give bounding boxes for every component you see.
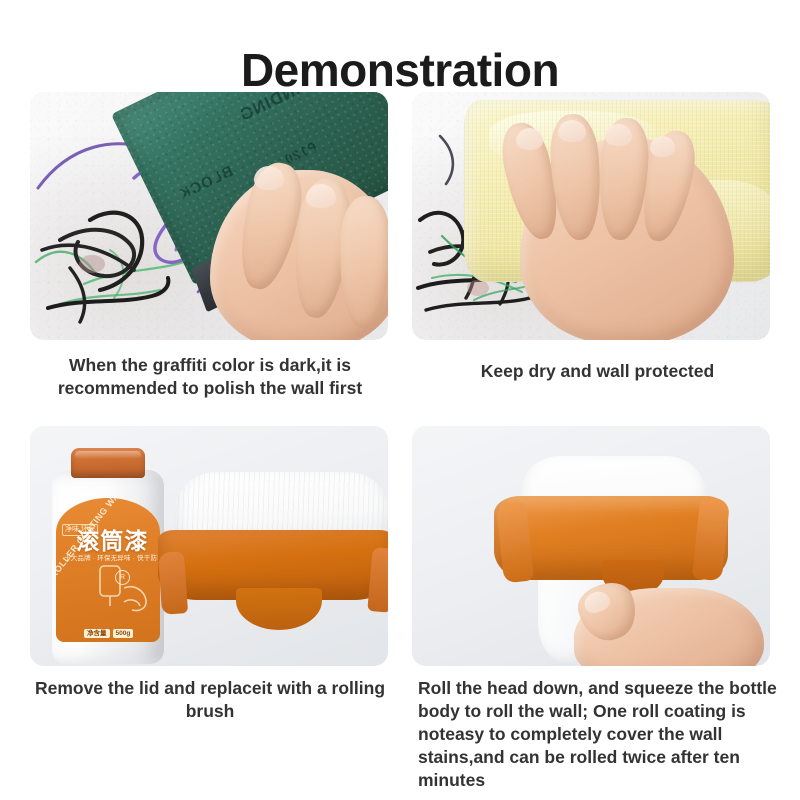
step-4-caption: Roll the head down, and squeeze the bott…	[418, 677, 788, 792]
roller-arm-left	[496, 501, 534, 584]
photo-sanding-block-on-graffiti-wall: SANDING BLOCK P120	[30, 92, 388, 340]
photo-wiping-wall-with-yellow-cloth	[412, 92, 770, 340]
step-2-caption: Keep dry and wall protected	[405, 360, 790, 383]
page-title: Demonstration	[0, 43, 800, 97]
label-weight-badges: 净含量 500g	[84, 629, 133, 638]
bottle-label: 净味 环保 滚筒漆 十大品牌 · 环保无异味 · 快干防霉 · 持久不脱落 RO…	[56, 498, 160, 642]
sanding-block-print-1: SANDING	[236, 92, 322, 126]
roller-stem	[236, 588, 322, 630]
photo-paint-bottle-and-roller-head: 净味 环保 滚筒漆 十大品牌 · 环保无异味 · 快干防霉 · 持久不脱落 RO…	[30, 426, 388, 666]
photo-rolling-paint-onto-wall	[412, 426, 770, 666]
fingernail	[650, 136, 675, 157]
label-illustration	[94, 558, 156, 616]
paint-bottle: 净味 环保 滚筒漆 十大品牌 · 环保无异味 · 快干防霉 · 持久不脱落 RO…	[52, 448, 164, 664]
sanding-block-print-3: P120	[282, 139, 319, 168]
sanding-block-print-2: BLOCK	[176, 163, 236, 204]
fingernail	[558, 120, 586, 142]
fingernail	[254, 166, 284, 190]
cradle-arm-right	[367, 547, 388, 613]
roller-brush-head	[158, 472, 388, 642]
fingernail	[306, 184, 336, 208]
fingernail	[605, 124, 632, 146]
roller-arm-right	[692, 497, 730, 582]
cradle-arm-left	[158, 551, 188, 615]
finger	[339, 196, 388, 329]
bottle-cap	[71, 448, 145, 478]
fingernail	[516, 128, 543, 150]
step-3-caption: Remove the lid and replaceit with a roll…	[20, 677, 400, 723]
label-weight-value: 500g	[113, 629, 134, 638]
label-weight-text: 净含量	[84, 629, 110, 638]
step-1-caption: When the graffiti color is dark,it is re…	[20, 354, 400, 400]
